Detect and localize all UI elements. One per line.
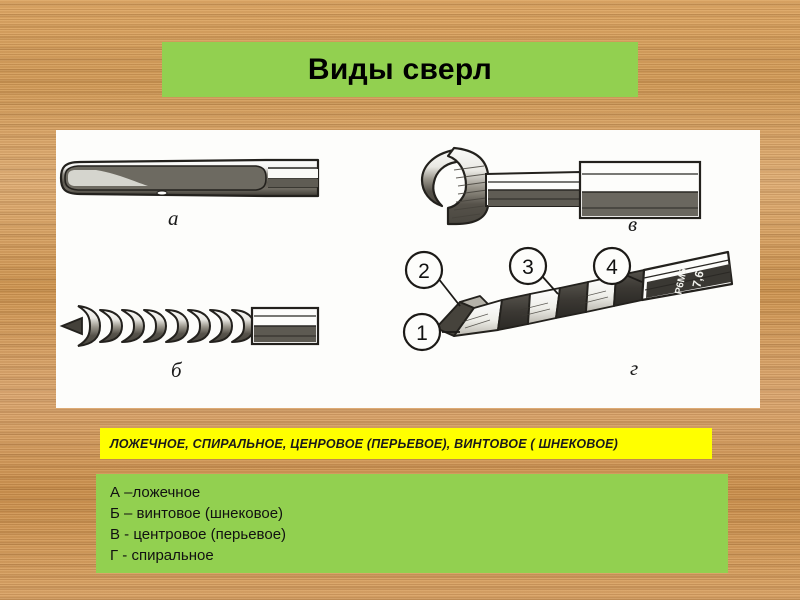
figure-twist-drill: 7,6 Р6М5 1 2 [404, 242, 732, 350]
legend-line-a: А –ложечное [110, 482, 728, 503]
slide-root: Виды сверл [0, 0, 800, 600]
callout-1: 1 [404, 314, 440, 350]
legend-panel: А –ложечное Б – винтовое (шнековое) В - … [96, 474, 728, 573]
figure-label-a: а [168, 206, 179, 231]
diagram-panel: 7,6 Р6М5 1 2 [56, 130, 760, 408]
figure-spade-center-drill [422, 148, 700, 224]
figure-label-g: г [630, 356, 638, 381]
figure-spoon-drill [61, 160, 318, 196]
figure-label-b: б [171, 358, 182, 383]
title-banner: Виды сверл [162, 42, 638, 97]
callout-4-label: 4 [606, 256, 618, 279]
figure-auger-drill [62, 306, 318, 346]
page-title: Виды сверл [308, 53, 492, 87]
callout-4: 4 [594, 248, 630, 284]
figure-label-v: в [628, 212, 637, 237]
legend-line-v: В - центровое (перьевое) [110, 524, 728, 545]
callout-3: 3 [510, 248, 546, 284]
legend-line-b: Б – винтовое (шнековое) [110, 503, 728, 524]
callout-2: 2 [406, 252, 442, 288]
drills-illustration: 7,6 Р6М5 1 2 [56, 130, 760, 408]
callout-3-label: 3 [522, 256, 534, 279]
legend-line-g: Г - спиральное [110, 545, 728, 566]
callout-1-label: 1 [416, 322, 428, 345]
terms-banner-text: ЛОЖЕЧНОЕ, СПИРАЛЬНОЕ, ЦЕНРОВОЕ (ПЕРЬЕВОЕ… [100, 437, 618, 451]
callout-2-label: 2 [418, 260, 430, 283]
terms-banner: ЛОЖЕЧНОЕ, СПИРАЛЬНОЕ, ЦЕНРОВОЕ (ПЕРЬЕВОЕ… [100, 428, 712, 459]
